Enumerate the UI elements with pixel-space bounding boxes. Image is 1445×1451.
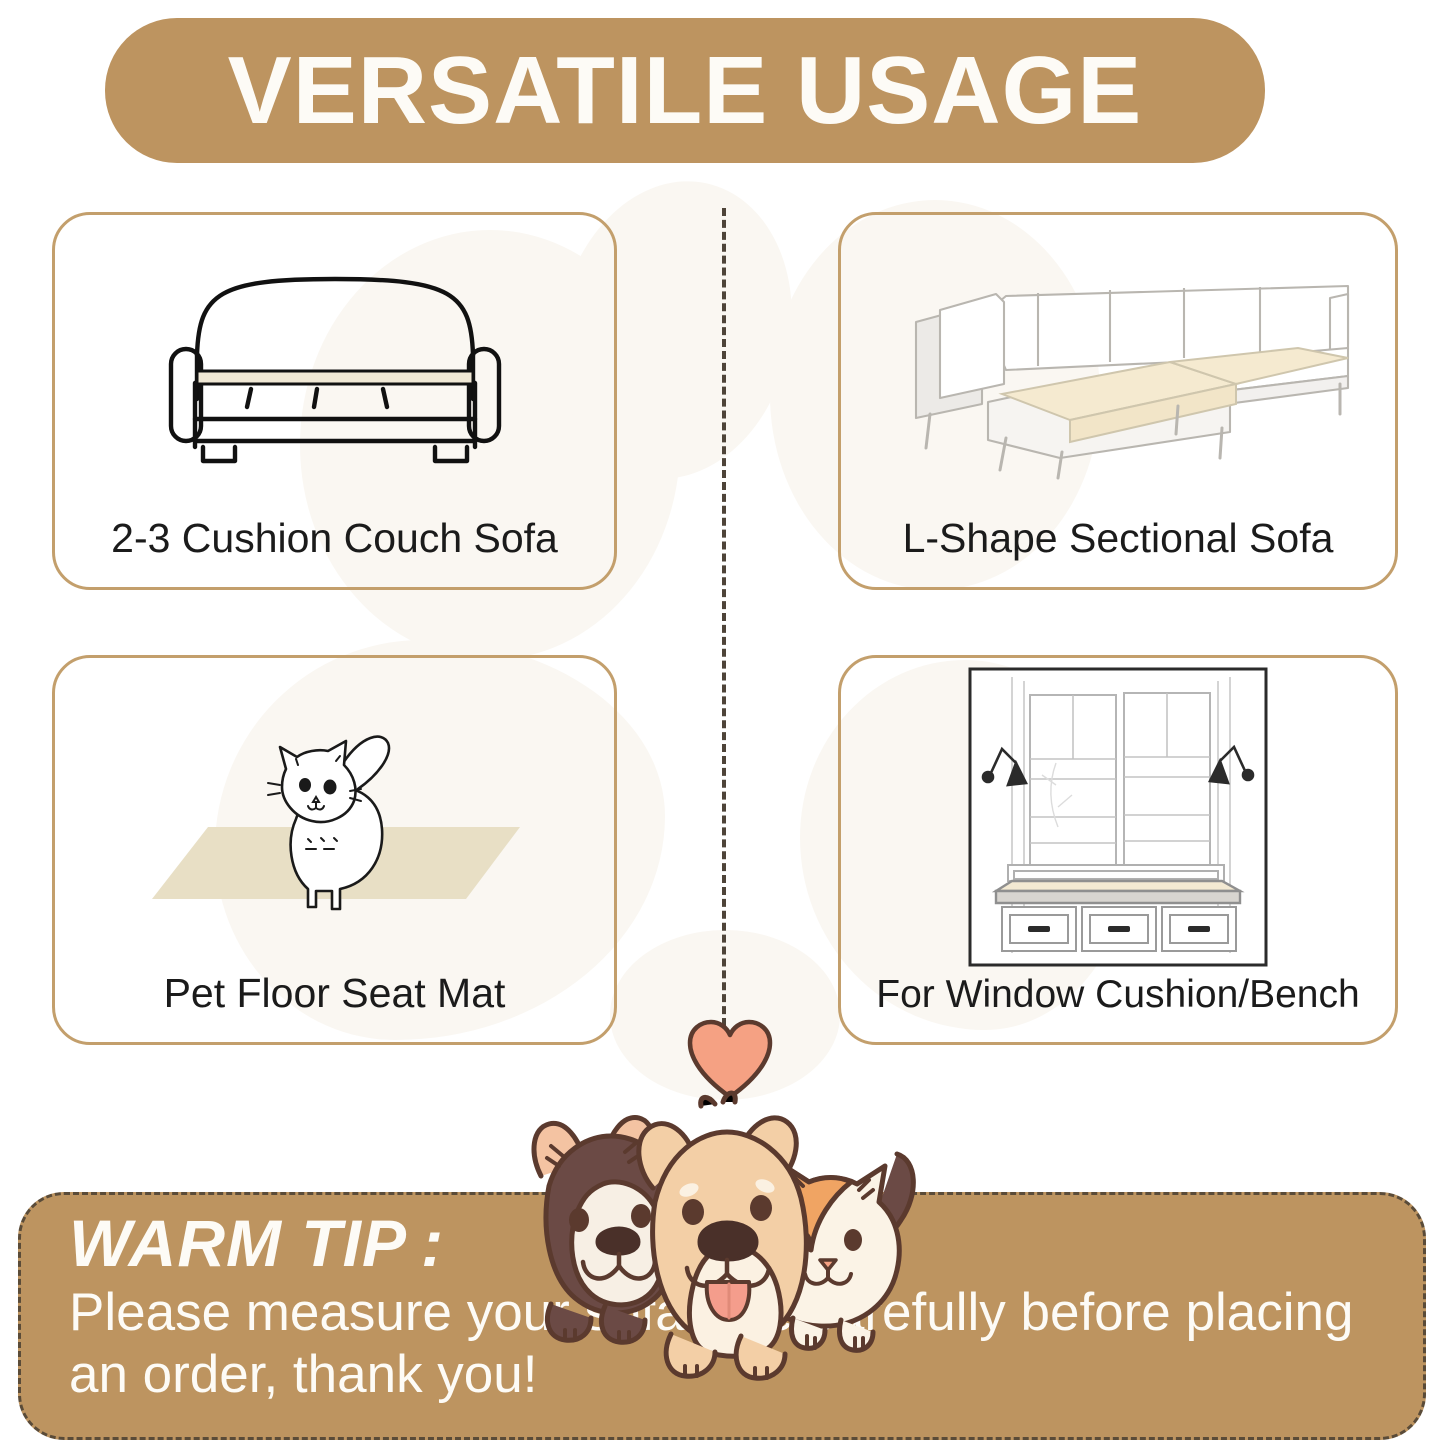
- usage-card-cushion-couch-sofa: 2-3 Cushion Couch Sofa: [52, 212, 617, 590]
- usage-card-l-shape-sectional-sofa: L-Shape Sectional Sofa: [838, 212, 1398, 590]
- heart-icon: [684, 1019, 776, 1101]
- sofa-outline-icon: [55, 215, 614, 518]
- usage-card-pet-floor-seat-mat: Pet Floor Seat Mat: [52, 655, 617, 1045]
- usage-card-label: For Window Cushion/Bench: [876, 975, 1359, 1042]
- usage-card-label: L-Shape Sectional Sofa: [903, 518, 1334, 587]
- infographic-page: VERSATILE USAGE: [0, 0, 1445, 1451]
- usage-card-label: 2-3 Cushion Couch Sofa: [111, 518, 558, 587]
- pets-illustration: [493, 1090, 948, 1395]
- sectional-sofa-icon: [841, 215, 1395, 518]
- usage-card-window-cushion-bench: For Window Cushion/Bench: [838, 655, 1398, 1045]
- window-bench-icon: [841, 658, 1395, 975]
- usage-card-label: Pet Floor Seat Mat: [164, 973, 506, 1042]
- cat-on-mat-icon: [55, 658, 614, 973]
